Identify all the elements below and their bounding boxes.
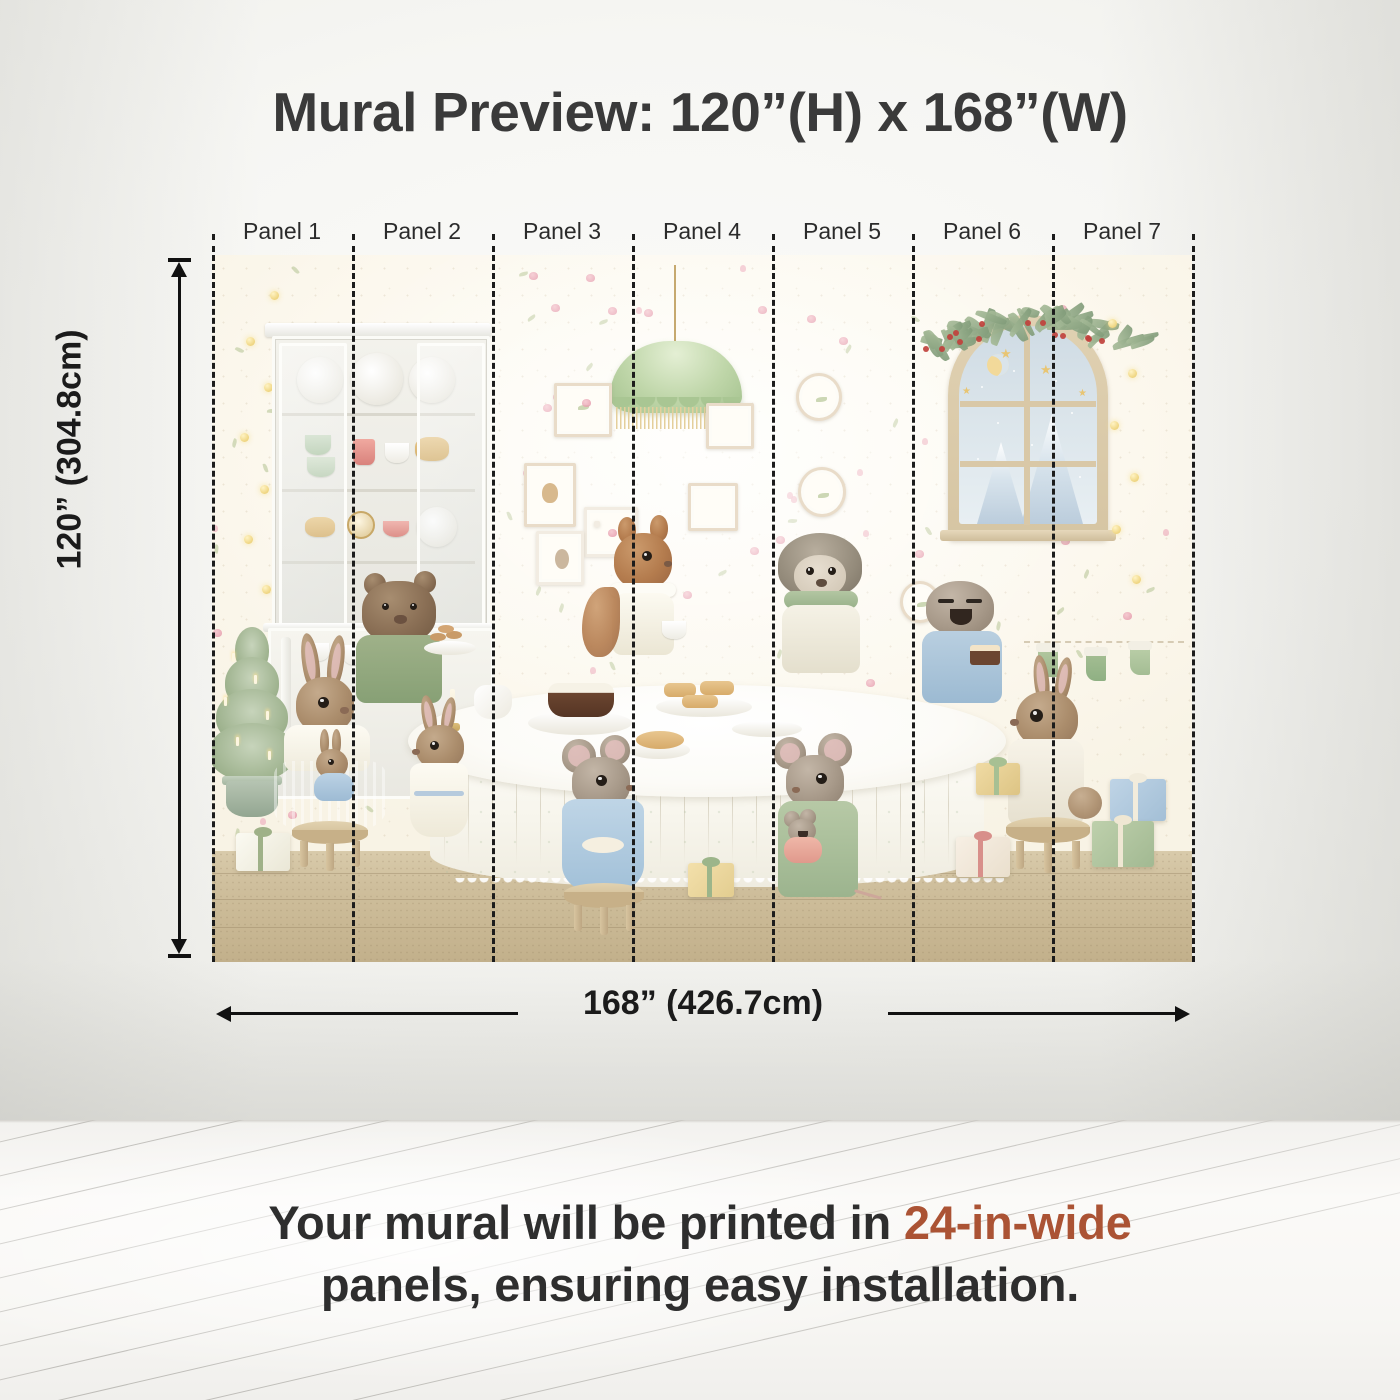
panel-tick-0 bbox=[212, 234, 215, 252]
footer-caption: Your mural will be printed in 24-in-wide… bbox=[0, 1192, 1400, 1316]
panel-divider-6 bbox=[1052, 255, 1055, 962]
mural-preview-page: Mural Preview: 120”(H) x 168”(W) Panel 1… bbox=[0, 0, 1400, 1400]
footer-text-before: Your mural will be printed in bbox=[268, 1196, 904, 1249]
width-dimension-label: 168” (426.7cm) bbox=[214, 984, 1192, 1023]
panel-label-7: Panel 7 bbox=[1052, 214, 1192, 248]
panel-tick-6 bbox=[1052, 234, 1055, 252]
panel-divider-lines bbox=[212, 255, 1192, 962]
panel-divider-3 bbox=[632, 255, 635, 962]
height-dimension-label: 120” (304.8cm) bbox=[51, 285, 90, 615]
panel-label-row: Panel 1Panel 2Panel 3Panel 4Panel 5Panel… bbox=[212, 214, 1192, 248]
panel-tick-3 bbox=[632, 234, 635, 252]
footer-line-2: panels, ensuring easy installation. bbox=[0, 1254, 1400, 1316]
panel-label-1: Panel 1 bbox=[212, 214, 352, 248]
panel-tick-4 bbox=[772, 234, 775, 252]
panel-divider-1 bbox=[352, 255, 355, 962]
panel-tick-5 bbox=[912, 234, 915, 252]
panel-divider-5 bbox=[912, 255, 915, 962]
floor-wall-joint bbox=[0, 1120, 1400, 1123]
panel-tick-1 bbox=[352, 234, 355, 252]
panel-label-2: Panel 2 bbox=[352, 214, 492, 248]
panel-label-4: Panel 4 bbox=[632, 214, 772, 248]
footer-accent-text: 24-in-wide bbox=[904, 1196, 1132, 1249]
panel-tick-7 bbox=[1192, 234, 1195, 252]
panel-divider-2 bbox=[492, 255, 495, 962]
panel-divider-4 bbox=[772, 255, 775, 962]
page-title: Mural Preview: 120”(H) x 168”(W) bbox=[0, 80, 1400, 144]
panel-label-3: Panel 3 bbox=[492, 214, 632, 248]
panel-tick-2 bbox=[492, 234, 495, 252]
width-dimension-arrow: 168” (426.7cm) bbox=[214, 1002, 1192, 1024]
panel-divider-0 bbox=[212, 255, 215, 962]
height-dimension-arrow bbox=[168, 258, 190, 958]
panel-label-5: Panel 5 bbox=[772, 214, 912, 248]
panel-label-6: Panel 6 bbox=[912, 214, 1052, 248]
panel-divider-7 bbox=[1192, 255, 1195, 962]
footer-line-1: Your mural will be printed in 24-in-wide bbox=[0, 1192, 1400, 1254]
